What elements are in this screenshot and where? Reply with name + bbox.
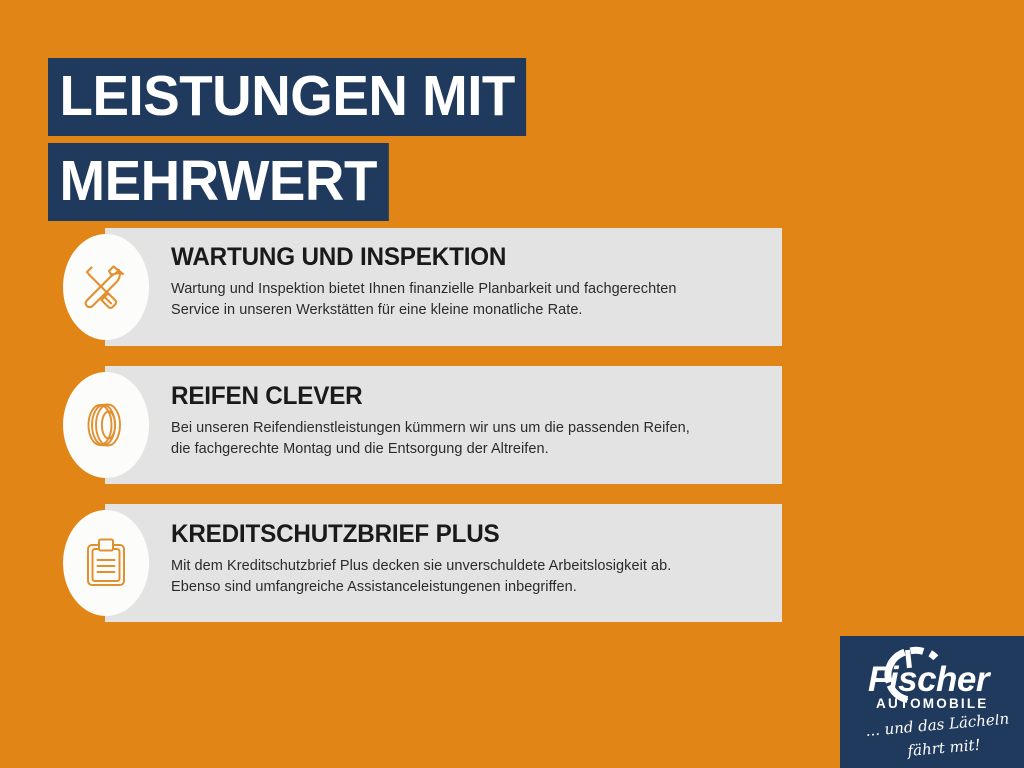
service-card-reifen-clever[interactable]: REIFEN CLEVER Bei unseren Reifendienstle… — [0, 366, 1024, 484]
logo-tagline-line-2: fährt mit! — [906, 736, 981, 760]
card-text-block: REIFEN CLEVER Bei unseren Reifendienstle… — [171, 383, 771, 460]
card-text-block: WARTUNG UND INSPEKTION Wartung und Inspe… — [171, 244, 771, 321]
card-body-line-2: Ebenso sind umfangreiche Assistanceleist… — [171, 577, 771, 598]
fischer-automobile-logo[interactable]: Fischer AUTOMOBILE ... und das Lächeln f… — [840, 636, 1024, 768]
card-body: Wartung und Inspektion bietet Ihnen fina… — [171, 279, 771, 321]
card-title: WARTUNG UND INSPEKTION — [171, 244, 753, 270]
service-card-wartung-und-inspektion[interactable]: WARTUNG UND INSPEKTION Wartung und Inspe… — [0, 228, 1024, 346]
tire-icon — [63, 372, 149, 478]
service-card-list: WARTUNG UND INSPEKTION Wartung und Inspe… — [0, 228, 1024, 642]
card-body: Bei unseren Reifendienstleistungen kümme… — [171, 418, 771, 460]
page-title: LEISTUNGEN MIT MEHRWERT — [48, 58, 546, 221]
card-body-line-1: Bei unseren Reifendienstleistungen kümme… — [171, 418, 771, 439]
service-card-kreditschutzbrief-plus[interactable]: KREDITSCHUTZBRIEF PLUS Mit dem Kreditsch… — [0, 504, 1024, 622]
logo-subtitle: AUTOMOBILE — [876, 697, 989, 711]
card-title: KREDITSCHUTZBRIEF PLUS — [171, 521, 753, 547]
logo-tagline: ... und das Lächeln fährt mit! — [852, 714, 1020, 764]
wrench-screwdriver-icon — [63, 234, 149, 340]
card-body-line-2: die fachgerechte Montag und die Entsorgu… — [171, 439, 771, 460]
card-text-block: KREDITSCHUTZBRIEF PLUS Mit dem Kreditsch… — [171, 521, 771, 598]
clipboard-icon — [63, 510, 149, 616]
card-title: REIFEN CLEVER — [171, 383, 753, 409]
page-title-line-2: MEHRWERT — [48, 143, 388, 221]
card-body-line-1: Wartung und Inspektion bietet Ihnen fina… — [171, 279, 771, 300]
logo-brand-name: Fischer — [868, 662, 989, 697]
card-body-line-2: Service in unseren Werkstätten für eine … — [171, 300, 771, 321]
card-body: Mit dem Kreditschutzbrief Plus decken si… — [171, 556, 771, 598]
page-title-line-1: LEISTUNGEN MIT — [48, 58, 526, 136]
logo-tagline-line-1: ... und das Lächeln — [865, 714, 1010, 740]
card-body-line-1: Mit dem Kreditschutzbrief Plus decken si… — [171, 556, 771, 577]
